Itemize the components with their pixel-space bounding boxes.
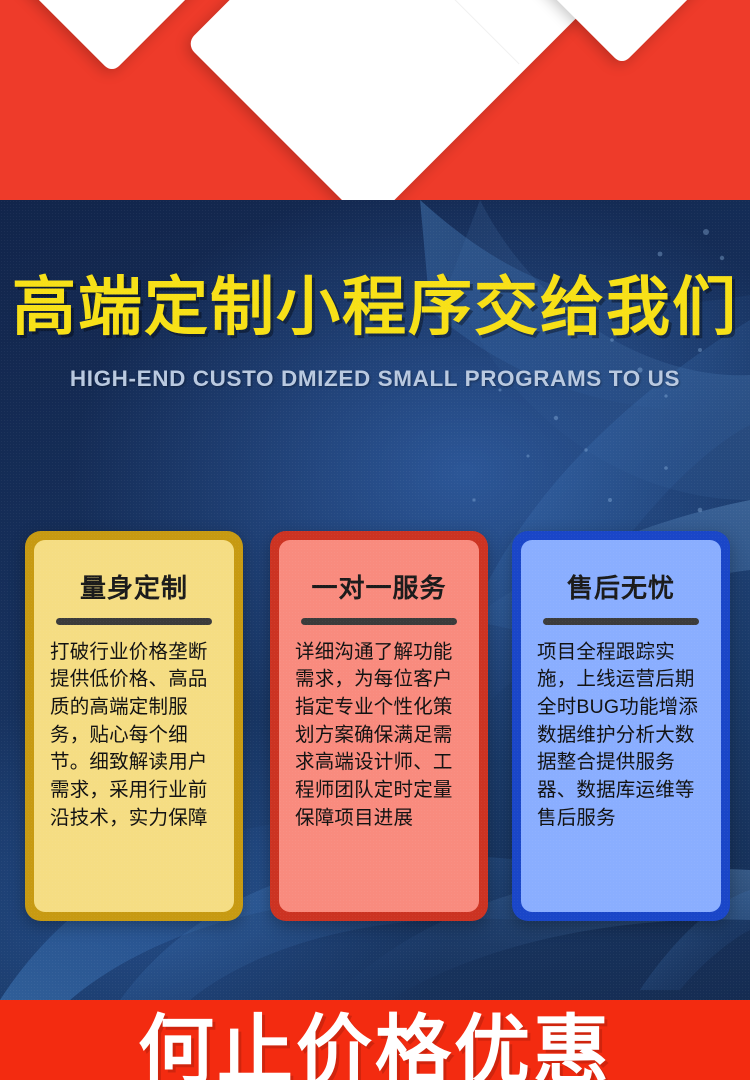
feature-card-aftersales-inner: 售后无忧 项目全程跟踪实施，上线运营后期全时BUG功能增添数据维护分析大数据整合… [521, 540, 721, 912]
card-divider [56, 618, 212, 625]
card-divider [301, 618, 457, 625]
hero-section: 高端定制小程序交给我们 HIGH-END CUSTO DMIZED SMALL … [0, 200, 750, 1000]
promo-page: 甜品 100 附近下单 甜品饮品 超市便利 [0, 0, 750, 1080]
feature-cards: 量身定制 打破行业价格垄断提供低价格、高品质的高端定制服务，贴心每个细节。细致解… [0, 531, 750, 921]
card-body: 项目全程跟踪实施，上线运营后期全时BUG功能增添数据维护分析大数据整合提供服务器… [537, 639, 705, 833]
feature-card-custom[interactable]: 量身定制 打破行业价格垄断提供低价格、高品质的高端定制服务，贴心每个细节。细致解… [25, 531, 243, 921]
card-body: 打破行业价格垄断提供低价格、高品质的高端定制服务，贴心每个细节。细致解读用户需求… [50, 639, 218, 833]
card-title: 售后无忧 [537, 574, 705, 603]
feature-card-service[interactable]: 一对一服务 详细沟通了解功能需求，为每位客户指定专业个性化策划方案确保满足需求高… [270, 531, 488, 921]
card-divider [543, 618, 699, 625]
bottom-banner-title: 何止价格优惠 [0, 1014, 750, 1080]
card-body: 详细沟通了解功能需求，为每位客户指定专业个性化策划方案确保满足需求高端设计师、工… [295, 639, 463, 833]
hero-title-wrap: 高端定制小程序交给我们 [0, 275, 750, 339]
page-title: 高端定制小程序交给我们 [0, 275, 750, 339]
card-title: 量身定制 [50, 574, 218, 603]
card-title: 一对一服务 [295, 574, 463, 603]
top-red-banner: 甜品 100 附近下单 甜品饮品 超市便利 [0, 0, 750, 200]
bottom-red-banner: 何止价格优惠 [0, 1000, 750, 1080]
page-subtitle: HIGH-END CUSTO DMIZED SMALL PROGRAMS TO … [0, 366, 750, 392]
feature-card-aftersales[interactable]: 售后无忧 项目全程跟踪实施，上线运营后期全时BUG功能增添数据维护分析大数据整合… [512, 531, 730, 921]
feature-card-custom-inner: 量身定制 打破行业价格垄断提供低价格、高品质的高端定制服务，贴心每个细节。细致解… [34, 540, 234, 912]
feature-card-service-inner: 一对一服务 详细沟通了解功能需求，为每位客户指定专业个性化策划方案确保满足需求高… [279, 540, 479, 912]
